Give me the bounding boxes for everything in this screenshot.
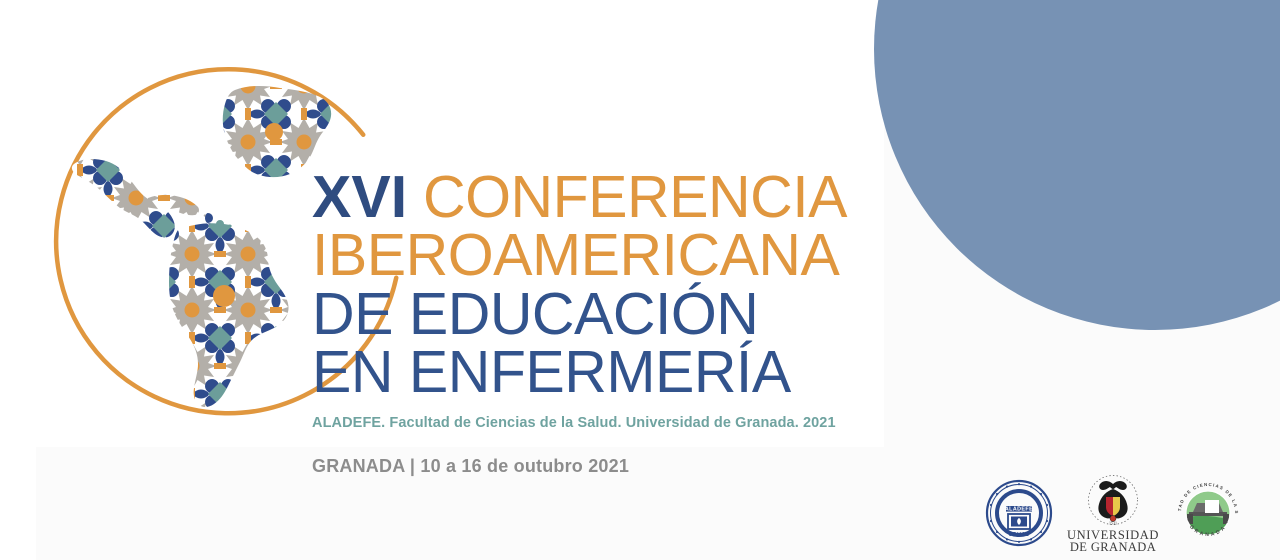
svg-text:ALADEFE: ALADEFE [1005,507,1033,513]
title-line-2: IBEROAMERICANA [312,226,812,284]
universidad-de-granada-logo: 1531 UNIVERSIDAD DE GRANADA [1067,474,1159,553]
blue-decorative-circle [874,0,1280,330]
poster-canvas: XVI CONFERENCIA IBEROAMERICANA DE EDUCAC… [0,0,1280,560]
aladefe-udual-logo: ALADEFE UDUAL [985,479,1053,547]
title-line-4: EN ENFERMERÍA [312,343,812,401]
white-content-panel-lower [0,447,36,560]
title-line-3: DE EDUCACIÓN [312,285,812,343]
facultad-ciencias-salud-logo: FACULTAD DE CIENCIAS DE LA SALUD · GRANA… [1173,478,1243,548]
svg-text:1531: 1531 [1109,520,1117,525]
sponsor-logo-row: ALADEFE UDUAL [985,468,1265,558]
svg-text:UDUAL: UDUAL [1009,532,1030,538]
event-dateline: GRANADA | 10 a 16 de outubro 2021 [312,456,629,477]
roman-numeral: XVI [312,164,407,230]
title-block: XVI CONFERENCIA IBEROAMERICANA DE EDUCAC… [312,168,812,431]
title-line-1: XVI CONFERENCIA [312,168,812,226]
spain-center-star-icon [265,123,283,141]
title-line-1-rest: CONFERENCIA [423,164,847,230]
ugr-wordmark-line-2: DE GRANADA [1067,541,1159,553]
ugr-wordmark-line-1: UNIVERSIDAD [1067,529,1159,541]
title-subtitle: ALADEFE. Facultad de Ciencias de la Salu… [312,415,812,431]
south-america-center-star-icon [213,285,235,307]
ugr-wordmark: UNIVERSIDAD DE GRANADA [1067,529,1159,553]
